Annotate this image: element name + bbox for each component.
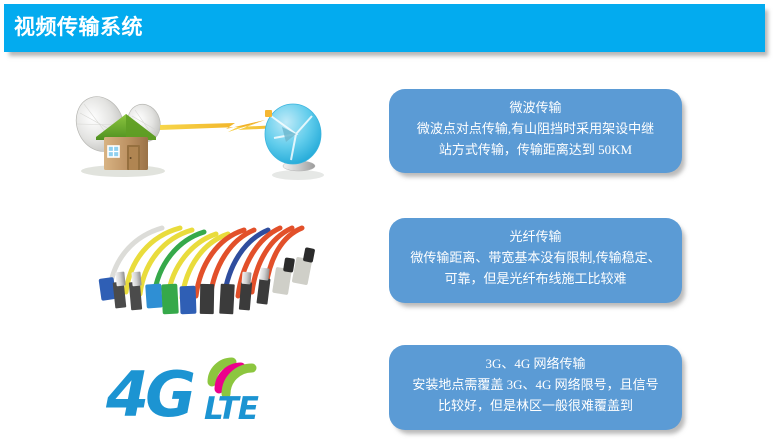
info-box-body-line: 可靠，但是光纤布线施工比较难	[395, 268, 676, 289]
info-box-body-line: 微波点对点传输,有山阻挡时采用架设中继	[395, 118, 676, 139]
info-box-body-line: 站方式传输，传输距离达到 50KM	[395, 139, 676, 160]
logo-4g-text: 4G	[105, 358, 194, 431]
microwave-transmission-illustration	[60, 80, 360, 190]
signal-arcs-icon	[212, 362, 252, 394]
info-box-fiber[interactable]: 光纤传输 微传输距离、带宽基本没有限制,传输稳定、 可靠，但是光纤布线施工比较难	[389, 218, 682, 303]
info-box-title: 3G、4G 网络传输	[395, 353, 676, 374]
info-box-microwave[interactable]: 微波传输 微波点对点传输,有山阻挡时采用架设中继 站方式传输，传输距离达到 50…	[389, 89, 682, 173]
artwork-lte: 4G LTE	[60, 336, 360, 440]
info-box-lte[interactable]: 3G、4G 网络传输 安装地点需覆盖 3G、4G 网络限号，且信号 比较好，但是…	[389, 345, 682, 430]
page-title: 视频传输系统	[14, 15, 143, 41]
info-box-body: 微波点对点传输,有山阻挡时采用架设中继 站方式传输，传输距离达到 50KM	[395, 118, 676, 160]
info-box-body: 安装地点需覆盖 3G、4G 网络限号，且信号 比较好，但是林区一般很难覆盖到	[395, 374, 676, 416]
fiber-optic-cables-photo	[88, 210, 328, 320]
info-box-body-line: 微传输距离、带宽基本没有限制,传输稳定、	[395, 247, 676, 268]
info-box-title: 微波传输	[395, 97, 676, 118]
info-box-body-line: 安装地点需覆盖 3G、4G 网络限号，且信号	[395, 374, 676, 395]
page-header-bar: 视频传输系统	[4, 4, 765, 52]
satellite-receiver-icon	[265, 104, 324, 180]
row-microwave: 微波传输 微波点对点传输,有山阻挡时采用架设中继 站方式传输，传输距离达到 50…	[0, 80, 773, 190]
info-box-body-line: 比较好，但是林区一般很难覆盖到	[395, 395, 676, 416]
logo-lte-text: LTE	[204, 391, 259, 427]
row-lte: 4G LTE 3G、4G 网络传输 安装地点需覆盖 3G、4G 网络限号，且信号…	[0, 336, 773, 440]
info-box-body: 微传输距离、带宽基本没有限制,传输稳定、 可靠，但是光纤布线施工比较难	[395, 247, 676, 289]
4g-lte-logo: 4G LTE	[100, 344, 340, 434]
row-fiber: 光纤传输 微传输距离、带宽基本没有限制,传输稳定、 可靠，但是光纤布线施工比较难	[0, 210, 773, 320]
info-box-title: 光纤传输	[395, 226, 676, 247]
artwork-microwave	[60, 80, 360, 190]
artwork-fiber	[60, 210, 360, 320]
